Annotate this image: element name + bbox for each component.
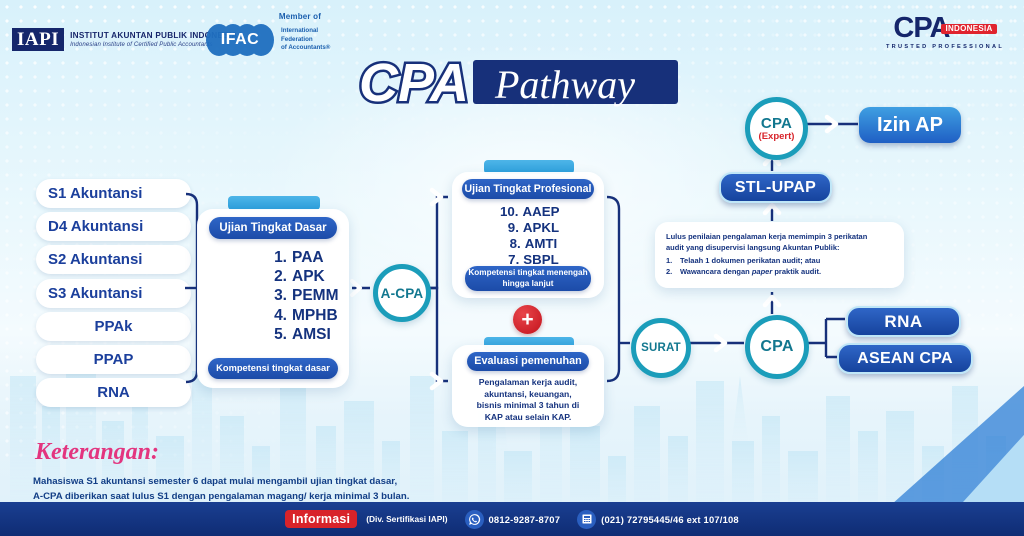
list-item-number: 2. [271, 267, 287, 286]
iapi-logo-mark: IAPI [12, 28, 64, 51]
list-item-label: MPHB [292, 306, 338, 325]
ifac-acronym: IFAC [205, 23, 275, 57]
list-item-number: 2. [666, 266, 674, 277]
list-item: 5.AMSI [271, 325, 349, 344]
keterangan-section: Keterangan: Mahasiswa S1 akuntansi semes… [33, 436, 463, 505]
entry-qualifications-list: S1 Akuntansi D4 Akuntansi S2 Akuntansi S… [36, 179, 191, 411]
list-item-label: APK [292, 267, 325, 286]
keterangan-line1: Mahasiswa S1 akuntansi semester 6 dapat … [33, 476, 397, 487]
card-pengalaman-note: Lulus penilaian pengalaman kerja memimpi… [655, 222, 904, 288]
pill-rna[interactable]: RNA [846, 306, 961, 337]
note-text-before: Wawancara dengan [680, 267, 752, 276]
node-surat[interactable]: SURAT [631, 318, 691, 378]
list-item-number: 5. [271, 325, 287, 344]
ifac-badge-icon: IFAC [205, 23, 275, 57]
entry-pill-s3[interactable]: S3 Akuntansi [36, 279, 191, 308]
list-item: 2.APK [271, 267, 349, 286]
list-item-number: 3. [271, 286, 287, 305]
entry-pill-s2[interactable]: S2 Akuntansi [36, 245, 191, 274]
ifac-full-line2: Federation [281, 36, 330, 44]
list-item-number: 9. [497, 220, 519, 236]
keterangan-heading: Keterangan: [33, 436, 183, 466]
list-item-number: 1. [666, 255, 674, 266]
list-item: 3.PEMM [271, 286, 349, 305]
entry-pill-ppak[interactable]: PPAk [36, 312, 191, 341]
entry-pill-label: PPAP [36, 351, 191, 368]
ifac-member-of-label: Member of [205, 12, 395, 21]
entry-pill-s1[interactable]: S1 Akuntansi [36, 179, 191, 208]
list-item-label: AMTI [525, 236, 558, 251]
card-note-body: Lulus penilaian pengalaman kerja memimpi… [655, 222, 904, 278]
list-item-label: AAEP [523, 204, 560, 219]
cpa-indonesia-logo: CPAINDONESIA TRUSTED PROFESSIONAL [880, 14, 1010, 50]
list-item-number: 10. [497, 204, 519, 220]
node-a-cpa[interactable]: A-CPA [373, 264, 431, 322]
list-item-number: 8. [499, 236, 521, 252]
card-evaluasi-body: Pengalaman kerja audit, akuntansi, keuan… [461, 377, 595, 424]
note-text-after: praktik audit. [772, 267, 821, 276]
tab-bar-dasar [228, 196, 320, 210]
footer-whatsapp-item[interactable]: 0812-9287-8707 [465, 510, 561, 529]
card-evaluasi-line3: bisnis minimal 3 tahun di [477, 400, 580, 410]
card-ujian-tingkat-dasar: Ujian Tingkat Dasar 1.PAA 2.APK 3.PEMM 4… [197, 209, 349, 388]
card-dasar-title: Ujian Tingkat Dasar [209, 217, 337, 239]
list-item-label: PAA [292, 248, 324, 267]
entry-pill-label: D4 Akuntansi [36, 218, 191, 235]
phone-icon [577, 510, 596, 529]
plus-icon: + [513, 305, 542, 334]
title-main: CPA [359, 53, 469, 113]
list-item-label: SBPL [523, 252, 558, 267]
cpa-logo-tagline: TRUSTED PROFESSIONAL [880, 44, 1010, 50]
footer-phone-number: (021) 72795445/46 ext 107/108 [601, 514, 739, 525]
node-cpa-expert-label: CPA [761, 115, 792, 132]
entry-pill-label: S1 Akuntansi [36, 185, 191, 202]
entry-pill-d4[interactable]: D4 Akuntansi [36, 212, 191, 241]
list-item: 8.AMTI [452, 236, 604, 252]
keterangan-line2: A-CPA diberikan saat lulus S1 dengan pen… [33, 491, 409, 502]
entry-pill-label: PPAk [36, 318, 191, 335]
footer-division-label: (Div. Sertifikasi IAPI) [366, 514, 447, 524]
node-cpa-expert[interactable]: CPA (Expert) [745, 97, 808, 160]
list-item: 9.APKL [452, 220, 604, 236]
footer-phone-item[interactable]: (021) 72795445/46 ext 107/108 [577, 510, 739, 529]
pill-stl-upap[interactable]: STL-UPAP [719, 172, 832, 203]
card-profesional-footer-badge: Kompetensi tingkat menengah hingga lanju… [465, 266, 591, 291]
entry-pill-ppap[interactable]: PPAP [36, 345, 191, 374]
card-evaluasi-line4: KAP atau selain KAP. [485, 412, 572, 422]
page-title: CPA Pathway [355, 46, 685, 118]
node-a-cpa-label: A-CPA [381, 286, 424, 301]
ifac-full-line3: of Accountants® [281, 44, 330, 52]
entry-pill-label: S3 Akuntansi [36, 285, 191, 302]
card-note-line1: Lulus penilaian pengalaman kerja memimpi… [666, 231, 893, 242]
cpa-logo-main: CPAINDONESIA [880, 14, 1010, 43]
entry-pill-rna[interactable]: RNA [36, 378, 191, 407]
card-profesional-title: Ujian Tingkat Profesional [462, 179, 594, 199]
ifac-full-name: International Federation of Accountants® [281, 27, 330, 52]
entry-pill-label: RNA [36, 384, 191, 401]
cpa-logo-country: INDONESIA [941, 24, 996, 34]
infographic-canvas: IAPI INSTITUT AKUNTAN PUBLIK INDONESIA I… [0, 0, 1024, 536]
node-cpa[interactable]: CPA [745, 315, 809, 379]
ifac-full-line1: International [281, 27, 330, 35]
list-item: 1.PAA [271, 248, 349, 267]
list-item-number: 4. [271, 306, 287, 325]
card-evaluasi-title: Evaluasi pemenuhan [467, 352, 589, 371]
card-evaluasi-line1: Pengalaman kerja audit, [479, 377, 577, 387]
whatsapp-icon [465, 510, 484, 529]
keterangan-body: Mahasiswa S1 akuntansi semester 6 dapat … [33, 475, 463, 505]
card-dasar-footer-badge: Kompetensi tingkat dasar [208, 358, 338, 379]
footer-whatsapp-number: 0812-9287-8707 [489, 514, 561, 525]
card-profesional-footer-line2: hingga lanjut [468, 279, 587, 290]
pill-asean-cpa[interactable]: ASEAN CPA [837, 343, 973, 374]
card-profesional-footer-line1: Kompetensi tingkat menengah [468, 268, 587, 279]
iapi-logo: IAPI INSTITUT AKUNTAN PUBLIK INDONESIA I… [12, 28, 238, 51]
list-item-label: PEMM [292, 286, 339, 305]
card-note-list: 1.Telaah 1 dokumen perikatan audit; atau… [666, 255, 893, 278]
node-cpa-label: CPA [760, 338, 793, 356]
list-item-label: Telaah 1 dokumen perikatan audit; atau [680, 255, 820, 266]
list-item-label: Wawancara dengan paper praktik audit. [680, 266, 821, 277]
title-script: Pathway [494, 62, 635, 107]
card-dasar-subject-list: 1.PAA 2.APK 3.PEMM 4.MPHB 5.AMSI [231, 248, 349, 344]
card-evaluasi-line2: akuntansi, keuangan, [484, 389, 571, 399]
entry-pill-label: S2 Akuntansi [36, 251, 191, 268]
pill-izin-ap[interactable]: Izin AP [859, 107, 961, 143]
card-note-line2: audit yang disupervisi langsung Akuntan … [666, 242, 893, 253]
list-item: 4.MPHB [271, 306, 349, 325]
footer-informasi-badge: Informasi [285, 510, 357, 528]
node-cpa-expert-sublabel: (Expert) [759, 131, 795, 142]
footer-contact-bar: Informasi (Div. Sertifikasi IAPI) 0812-9… [0, 502, 1024, 536]
list-item: 2.Wawancara dengan paper praktik audit. [666, 266, 893, 277]
list-item: 1.Telaah 1 dokumen perikatan audit; atau [666, 255, 893, 266]
list-item-label: APKL [523, 220, 559, 235]
note-emphasis: paper [752, 267, 772, 276]
list-item-number: 1. [271, 248, 287, 267]
list-item: 10.AAEP [452, 204, 604, 220]
node-surat-label: SURAT [641, 342, 681, 354]
list-item-label: AMSI [292, 325, 331, 344]
keterangan-heading-text: Keterangan: [34, 439, 159, 465]
card-ujian-tingkat-profesional: Ujian Tingkat Profesional 10.AAEP 9.APKL… [452, 172, 604, 298]
card-evaluasi-pemenuhan: Evaluasi pemenuhan Pengalaman kerja audi… [452, 345, 604, 427]
